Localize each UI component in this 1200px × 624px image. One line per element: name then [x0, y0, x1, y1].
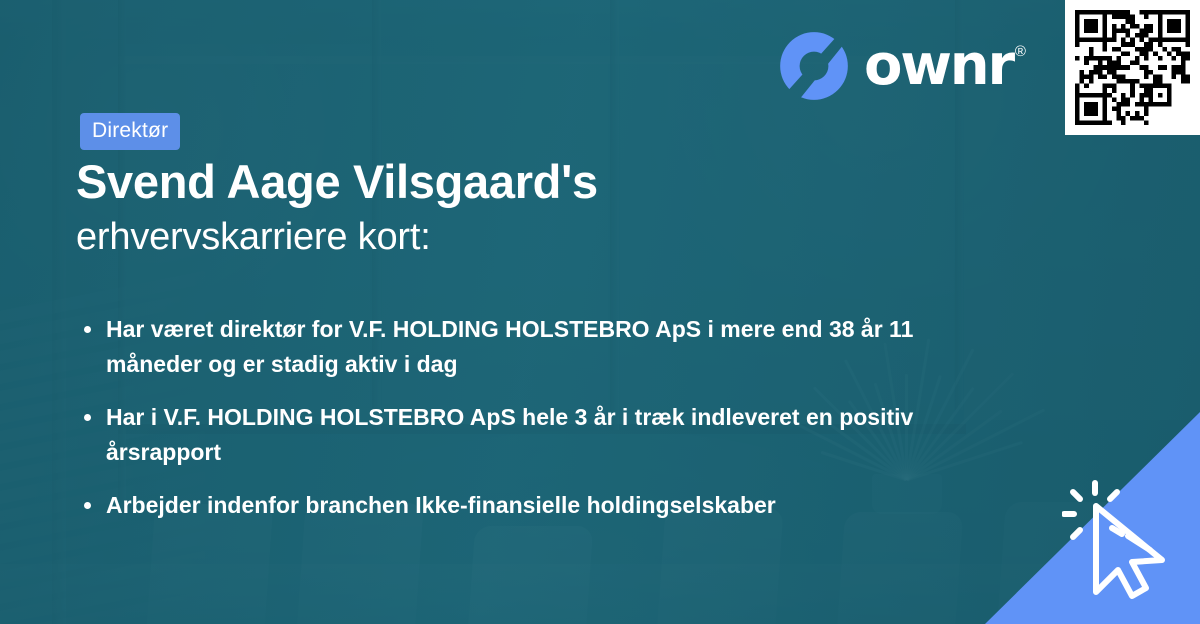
ownr-wordmark: ownr ® [864, 38, 1026, 94]
registered-trademark-icon: ® [1015, 44, 1026, 59]
corner-accent-wedge [985, 412, 1200, 624]
role-badge: Direktør [80, 113, 180, 150]
person-name: Svend Aage Vilsgaard's [76, 155, 956, 210]
page-title: Svend Aage Vilsgaard's erhvervskarriere … [76, 155, 956, 260]
ownr-logo[interactable]: ownr ® [778, 30, 1026, 102]
click-cursor-icon [1062, 480, 1182, 602]
subtitle: erhvervskarriere kort: [76, 215, 956, 261]
career-summary-card: Direktør Svend Aage Vilsgaard's erhvervs… [0, 0, 1200, 624]
qr-code[interactable] [1065, 0, 1200, 135]
ownr-circle-slash-mark [778, 30, 850, 102]
ownr-wordmark-text: ownr [864, 38, 1013, 94]
list-item: Har i V.F. HOLDING HOLSTEBRO ApS hele 3 … [78, 400, 958, 470]
qr-code-image [1075, 10, 1190, 125]
list-item: Arbejder indenfor branchen Ikke-finansie… [78, 488, 958, 523]
career-facts-list: Har været direktør for V.F. HOLDING HOLS… [78, 312, 958, 541]
list-item: Har været direktør for V.F. HOLDING HOLS… [78, 312, 958, 382]
